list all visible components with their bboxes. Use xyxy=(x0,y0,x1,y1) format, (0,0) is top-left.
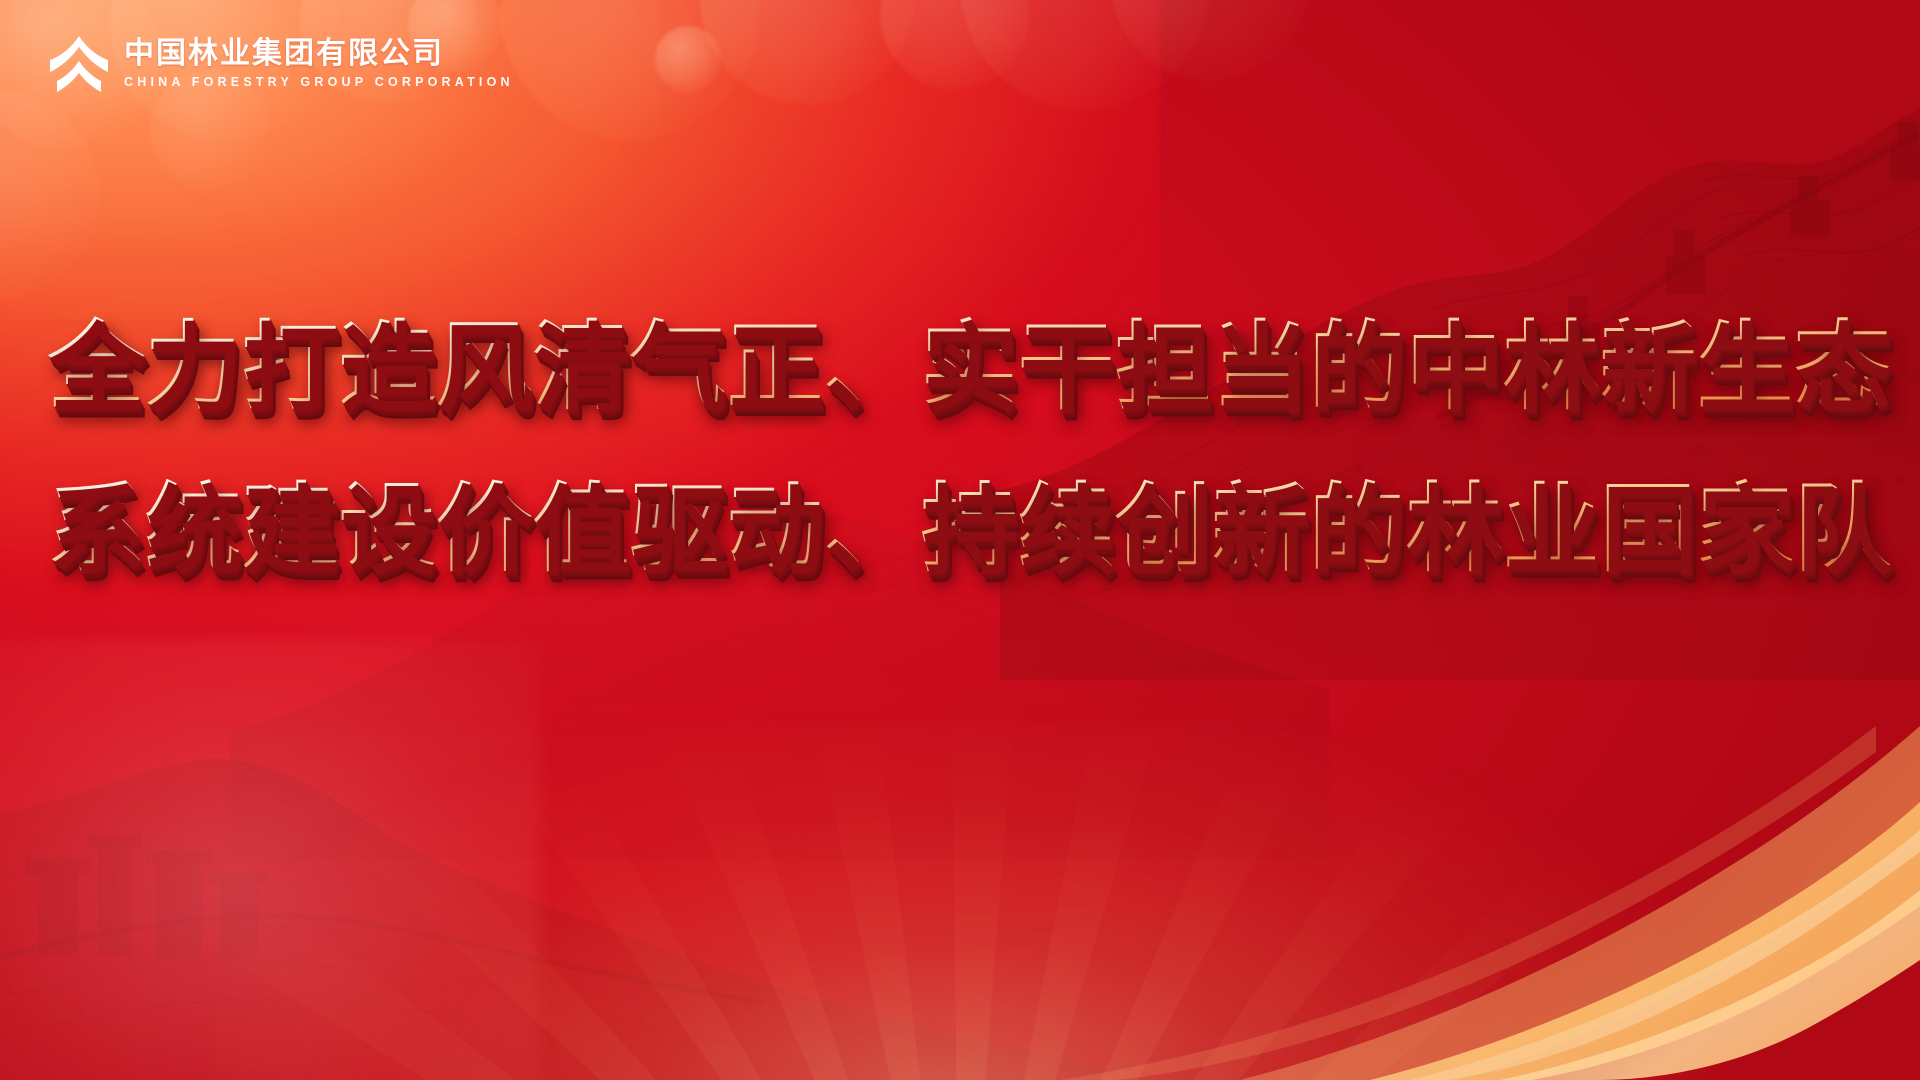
headline-line-1: 全力打造风清气正、实干担当的中林新生态 xyxy=(48,300,1872,436)
logo-company-name-en: CHINA FORESTRY GROUP CORPORATION xyxy=(124,75,514,91)
headline-line-2-wrap: 系统建设价值驱动、持续创新的林业国家队 系统建设价值驱动、持续创新的林业国家队 xyxy=(48,462,1872,598)
logo-company-name-cn: 中国林业集团有限公司 xyxy=(124,37,514,71)
logo: 中国林业集团有限公司 CHINA FORESTRY GROUP CORPORAT… xyxy=(48,34,514,94)
headline-line-1-wrap: 全力打造风清气正、实干担当的中林新生态 全力打造风清气正、实干担当的中林新生态 xyxy=(48,300,1872,436)
headline-line-2: 系统建设价值驱动、持续创新的林业国家队 xyxy=(48,462,1872,598)
logo-text-block: 中国林业集团有限公司 CHINA FORESTRY GROUP CORPORAT… xyxy=(124,37,514,91)
left-edge-sheen xyxy=(0,640,540,1080)
headline-line-1-text: 全力打造风清气正、实干担当的中林新生态 xyxy=(48,300,1891,436)
gold-ribbon-swoosh xyxy=(940,660,1920,1080)
china-forestry-group-chevron-mark-icon xyxy=(48,34,110,94)
headline-block: 全力打造风清气正、实干担当的中林新生态 全力打造风清气正、实干担当的中林新生态 … xyxy=(0,300,1920,599)
banner-root: 中国林业集团有限公司 CHINA FORESTRY GROUP CORPORAT… xyxy=(0,0,1920,1080)
headline-line-2-text: 系统建设价值驱动、持续创新的林业国家队 xyxy=(48,462,1891,598)
